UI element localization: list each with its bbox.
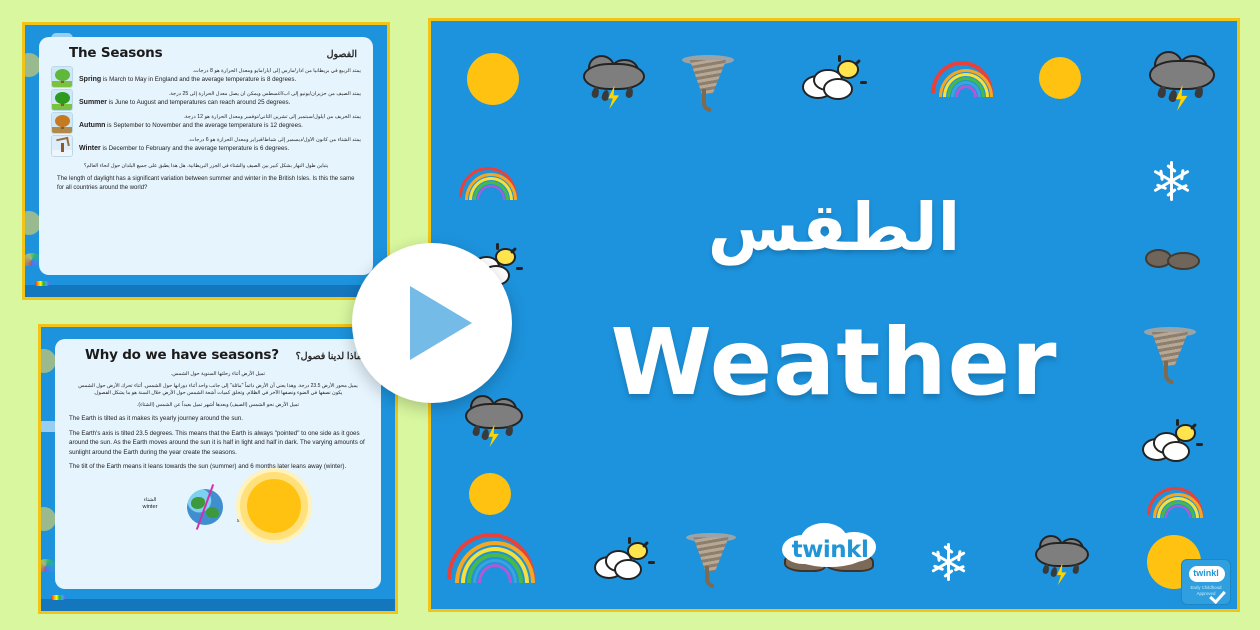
sun-ray [1196, 443, 1203, 446]
season-row-winter: يمتد الشتاء من كانون الأول/ديسمبر إلى شب… [51, 135, 361, 157]
season-text-en: Summer is June to August and temperature… [79, 98, 361, 109]
season-text-ar: يمتد الخريف من أيلول/سبتمبر إلى تشرين ال… [79, 114, 361, 121]
twinkl-approval-badge: twinkl Early Childhood Approved [1181, 559, 1231, 605]
spring-tree-icon [51, 66, 73, 88]
summer-tree-icon [51, 89, 73, 111]
footer-text-en: The length of daylight has a significant… [57, 175, 355, 193]
snowflake-icon [929, 543, 967, 581]
season-text-ar: يمتد الشتاء من كانون الأول/ديسمبر إلى شب… [79, 137, 361, 144]
sun-icon [1039, 57, 1081, 99]
sun-ray [838, 55, 841, 62]
sun-ray [648, 561, 655, 564]
winter-tree-icon [51, 135, 73, 157]
season-desc-en: is September to November and the average… [105, 122, 302, 129]
sun-cloud-icon [801, 55, 863, 107]
twinkl-wordmark: twinkl [778, 537, 882, 563]
season-name-en: Winter [79, 145, 101, 152]
slide-header: Why do we have seasons? لماذا لدينا فصول… [67, 345, 369, 367]
body-text-en: The Earth is tilted as it makes its year… [69, 414, 367, 424]
season-desc-en: is December to February and the average … [101, 145, 289, 152]
season-desc-en: is June to August and temperatures can r… [107, 99, 290, 106]
season-text-en: Winter is December to February and the a… [79, 144, 361, 155]
body-text-en: The Earth's axis is tilted 23.5 degrees.… [69, 429, 367, 458]
slide-title-en: The Seasons [69, 45, 162, 61]
autumn-tree-icon [51, 112, 73, 134]
main-slide-weather[interactable]: الطقس Weather twinkl twinkl Early Childh… [428, 18, 1240, 612]
play-button[interactable] [352, 243, 512, 403]
play-triangle-icon [410, 286, 472, 360]
rainbow-icon [931, 61, 993, 93]
slide-title-ar: الفصول [327, 49, 357, 60]
slide-footer-bar [25, 285, 387, 297]
tornado-icon [681, 51, 735, 113]
sun-icon [247, 479, 301, 533]
rainbow-icon [447, 533, 535, 579]
sun-ray [860, 81, 867, 84]
diagram-label-winter-ar: الشتاء [127, 497, 173, 504]
slide-title-ar: لماذا لدينا فصول؟ [296, 351, 365, 362]
season-name-en: Autumn [79, 122, 105, 129]
season-desc-en: is March to May in England and the avera… [101, 76, 296, 83]
slide-footer: يتباين طول النهار بشكل كبير بين الصيف وا… [51, 163, 361, 193]
page-title-english: Weather [431, 309, 1237, 416]
storm-cloud-icon [1035, 533, 1089, 585]
sun-ray [628, 537, 631, 544]
decor-sun-icon [38, 349, 56, 373]
season-row-autumn: يمتد الخريف من أيلول/سبتمبر إلى تشرين ال… [51, 112, 361, 134]
season-row-spring: يمتد الربيع في بريطانيا من آذار/مارس إلى… [51, 66, 361, 88]
tornado-icon [685, 529, 737, 589]
diagram-label-winter-en: winter [127, 504, 173, 512]
sun-cloud-icon [593, 537, 651, 587]
body-text-ar: تميل الأرض أثناء رحلتها السنوية حول الشم… [77, 371, 359, 379]
sun-ray [1176, 419, 1179, 426]
season-name-en: Spring [79, 76, 101, 83]
season-text-en: Autumn is September to November and the … [79, 121, 361, 132]
earth-sun-tilt-diagram: الشتاء winter الصيف summer [67, 477, 369, 541]
slide-footer-bar [41, 599, 395, 611]
slide-title-en: Why do we have seasons? [85, 347, 279, 363]
page-title-arabic: الطقس [431, 189, 1237, 266]
sun-ray [516, 267, 523, 270]
diagram-label-winter: الشتاء winter [127, 497, 173, 512]
body-text-en: The tilt of the Earth means it leans tow… [69, 462, 367, 472]
storm-cloud-icon [583, 53, 645, 109]
body-text-ar: تميل الأرض نحو الشمس (الصيف) وبعدها أشهر… [77, 402, 359, 410]
storm-cloud-icon [1149, 49, 1215, 111]
footer-text-ar: يتباين طول النهار بشكل كبير بين الصيف وا… [57, 163, 355, 170]
season-text-ar: يمتد الصيف من حزيران/يونيو إلى آب/أغسطس … [79, 91, 361, 98]
decor-sun-icon [38, 507, 56, 531]
sun-icon [467, 53, 519, 105]
body-text-ar: يميل محور الأرض 23.5 درجة. وهذا يعني أن … [77, 383, 359, 398]
sun-icon [469, 473, 511, 515]
season-name-en: Summer [79, 99, 107, 106]
slide-thumbnail-why-seasons[interactable]: Why do we have seasons? لماذا لدينا فصول… [38, 324, 398, 614]
slide-header: The Seasons الفصول [51, 43, 361, 65]
season-text-ar: يمتد الربيع في بريطانيا من آذار/مارس إلى… [79, 68, 361, 75]
slide-thumbnail-the-seasons[interactable]: The Seasons الفصول يمتد الربيع في بريطان… [22, 22, 390, 300]
rainbow-icon [1147, 487, 1203, 515]
badge-wordmark: twinkl [1182, 568, 1230, 578]
season-row-summer: يمتد الصيف من حزيران/يونيو إلى آب/أغسطس … [51, 89, 361, 111]
twinkl-logo: twinkl [778, 521, 882, 583]
sun-cloud-icon [1141, 419, 1199, 469]
slide-paper: Why do we have seasons? لماذا لدينا فصول… [55, 339, 381, 589]
slide-paper: The Seasons الفصول يمتد الربيع في بريطان… [39, 37, 373, 275]
season-text-en: Spring is March to May in England and th… [79, 75, 361, 86]
